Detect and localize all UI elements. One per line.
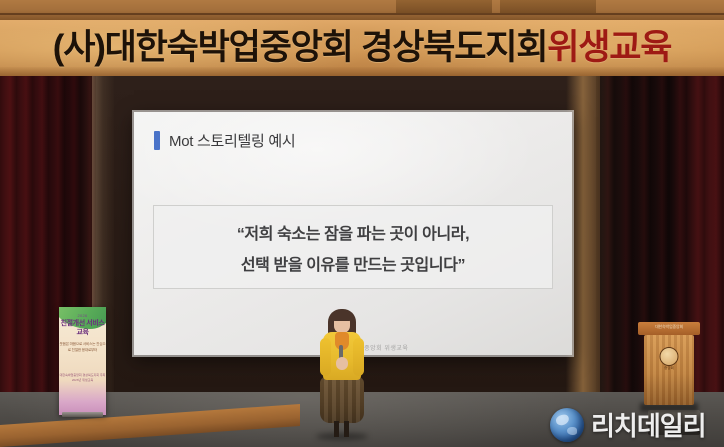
slide-quote-box: “저희 숙소는 잠을 파는 곳이 아니라, 선택 받을 이유를 만드는 곳입니다… [153,205,553,289]
standee-year: 2026 [59,313,106,318]
ceiling-panel-segment-2 [500,0,596,13]
stage-front-edge [0,404,300,447]
podium-emblem-icon [660,347,679,366]
watermark: 리치데일리 [550,406,706,443]
standee-base [62,412,103,417]
quote-line-1: “저희 숙소는 잠을 파는 곳이 아니라, [237,220,469,244]
presenter-skirt [320,377,364,423]
banner-accent-text: 위생교육 [547,28,671,67]
presenter-leg-right [344,421,349,437]
presenter-leg-left [334,421,339,437]
presenter-arm-left [320,338,331,376]
quote-line-2: 선택 받을 이유를 만드는 곳입니다” [241,251,465,275]
ceiling-seam [0,13,724,15]
podium: 대한숙박업중앙회 중앙회 [638,322,700,410]
presenter [310,305,374,437]
ceiling-panel [0,0,724,22]
event-banner: (사)대한숙박업중앙회 경상북도지회위생교육 [0,20,724,76]
heading-accent-bar [154,131,160,150]
banner-main-text: (사)대한숙박업중앙회 경상북도지회 [53,28,547,67]
podium-body: 중앙회 [644,335,694,405]
slide-heading-text: Mot 스토리텔링 예시 [169,130,295,151]
podium-top: 대한숙박업중앙회 [638,322,700,335]
ceiling-panel-segment-1 [396,0,492,13]
standee-body: 웃음은 마음으로 서비스는 진심으로 친절한 응대로부터 [59,341,106,353]
slide-heading: Mot 스토리텔링 예시 [154,130,295,151]
globe-icon [550,408,584,442]
presenter-fringe [332,310,352,321]
standee-title: 친절개선 서비스교육 [59,319,106,337]
watermark-text: 리치데일리 [591,406,706,443]
podium-emblem-label: 중앙회 [644,366,694,371]
seminar-photo: (사)대한숙박업중앙회 경상북도지회위생교육 Mot 스토리텔링 예시 “저희 … [0,0,724,447]
banner-title: (사)대한숙박업중앙회 경상북도지회위생교육 [0,26,724,69]
standee-footer: 대한숙박업중앙회 경상북도지회 주최 2026년 위생교육 [59,373,106,383]
presenter-shadow [316,433,368,440]
roll-up-standee: 2026 친절개선 서비스교육 웃음은 마음으로 서비스는 진심으로 친절한 응… [59,307,106,415]
presenter-hands [336,357,348,370]
podium-top-text: 대한숙박업중앙회 [638,324,700,329]
presenter-arm-right [353,338,364,376]
